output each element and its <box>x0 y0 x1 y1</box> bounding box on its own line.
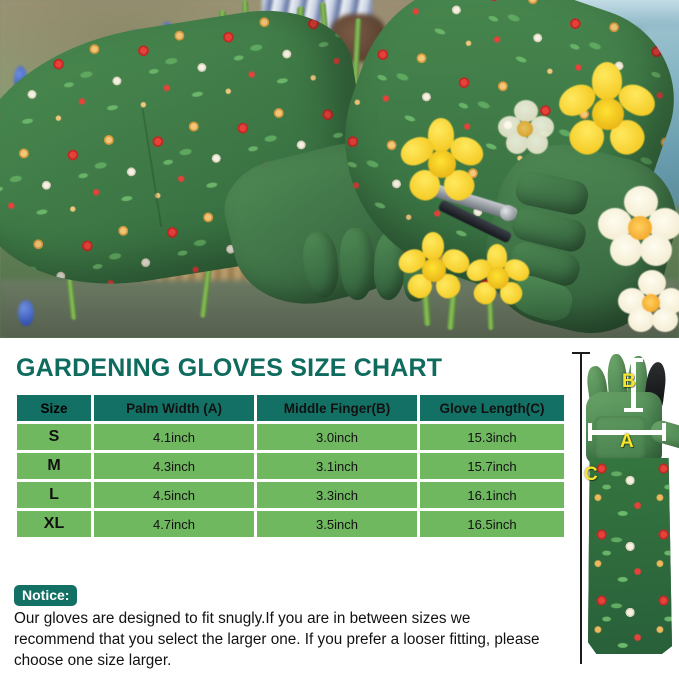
measure-label-b: B <box>622 371 636 393</box>
glove-measurement-diagram: B A C <box>558 338 679 674</box>
table-header-row: Size Palm Width (A) Middle Finger(B) Glo… <box>17 395 564 421</box>
column-header-size: Size <box>17 395 91 421</box>
cell-size: M <box>17 453 91 479</box>
daffodil-flower <box>398 118 488 208</box>
table-row: XL 4.7inch 3.5inch 16.5inch <box>17 511 564 537</box>
cell-glove-length: 15.3inch <box>420 424 564 450</box>
measure-a-cap-left <box>588 423 592 441</box>
length-measure-line <box>580 352 582 664</box>
cell-palm-width: 4.1inch <box>94 424 254 450</box>
page-title: GARDENING GLOVES SIZE CHART <box>16 354 442 383</box>
cell-palm-width: 4.7inch <box>94 511 254 537</box>
table-row: M 4.3inch 3.1inch 15.7inch <box>17 453 564 479</box>
table-row: S 4.1inch 3.0inch 15.3inch <box>17 424 564 450</box>
primrose-flower <box>498 100 554 154</box>
cell-palm-width: 4.5inch <box>94 482 254 508</box>
daffodil-flower <box>398 232 470 304</box>
cell-middle-finger: 3.1inch <box>257 453 417 479</box>
muscari-flower <box>18 300 34 326</box>
cell-middle-finger: 3.3inch <box>257 482 417 508</box>
notice-block: Notice: Our gloves are designed to fit s… <box>14 585 554 671</box>
length-measure-cap <box>572 352 590 354</box>
cell-middle-finger: 3.0inch <box>257 424 417 450</box>
notice-badge: Notice: <box>14 585 77 606</box>
cell-middle-finger: 3.5inch <box>257 511 417 537</box>
daffodil-flower <box>556 62 660 162</box>
cell-size: L <box>17 482 91 508</box>
cell-palm-width: 4.3inch <box>94 453 254 479</box>
notice-text: Our gloves are designed to fit snugly.If… <box>14 609 554 671</box>
pruning-shear-pivot <box>500 205 516 221</box>
column-header-palm-width: Palm Width (A) <box>94 395 254 421</box>
daffodil-flower <box>466 244 530 308</box>
cell-glove-length: 16.5inch <box>420 511 564 537</box>
cell-size: XL <box>17 511 91 537</box>
table-row: L 4.5inch 3.3inch 16.1inch <box>17 482 564 508</box>
product-photo <box>0 0 679 338</box>
cell-glove-length: 16.1inch <box>420 482 564 508</box>
glove-finger <box>339 228 374 301</box>
size-chart-table: Size Palm Width (A) Middle Finger(B) Glo… <box>14 392 567 540</box>
column-header-glove-length: Glove Length(C) <box>420 395 564 421</box>
primrose-flower <box>618 270 679 332</box>
diagram-floral-cuff <box>588 458 672 654</box>
measure-label-c: C <box>584 464 598 486</box>
primrose-flower <box>598 186 679 270</box>
measure-b-cap-top <box>624 358 643 362</box>
cell-glove-length: 15.7inch <box>420 453 564 479</box>
measure-a-cap-right <box>662 423 666 441</box>
measure-b-cap-bottom <box>624 408 643 412</box>
column-header-middle-finger: Middle Finger(B) <box>257 395 417 421</box>
measure-label-a: A <box>620 431 634 453</box>
cell-size: S <box>17 424 91 450</box>
